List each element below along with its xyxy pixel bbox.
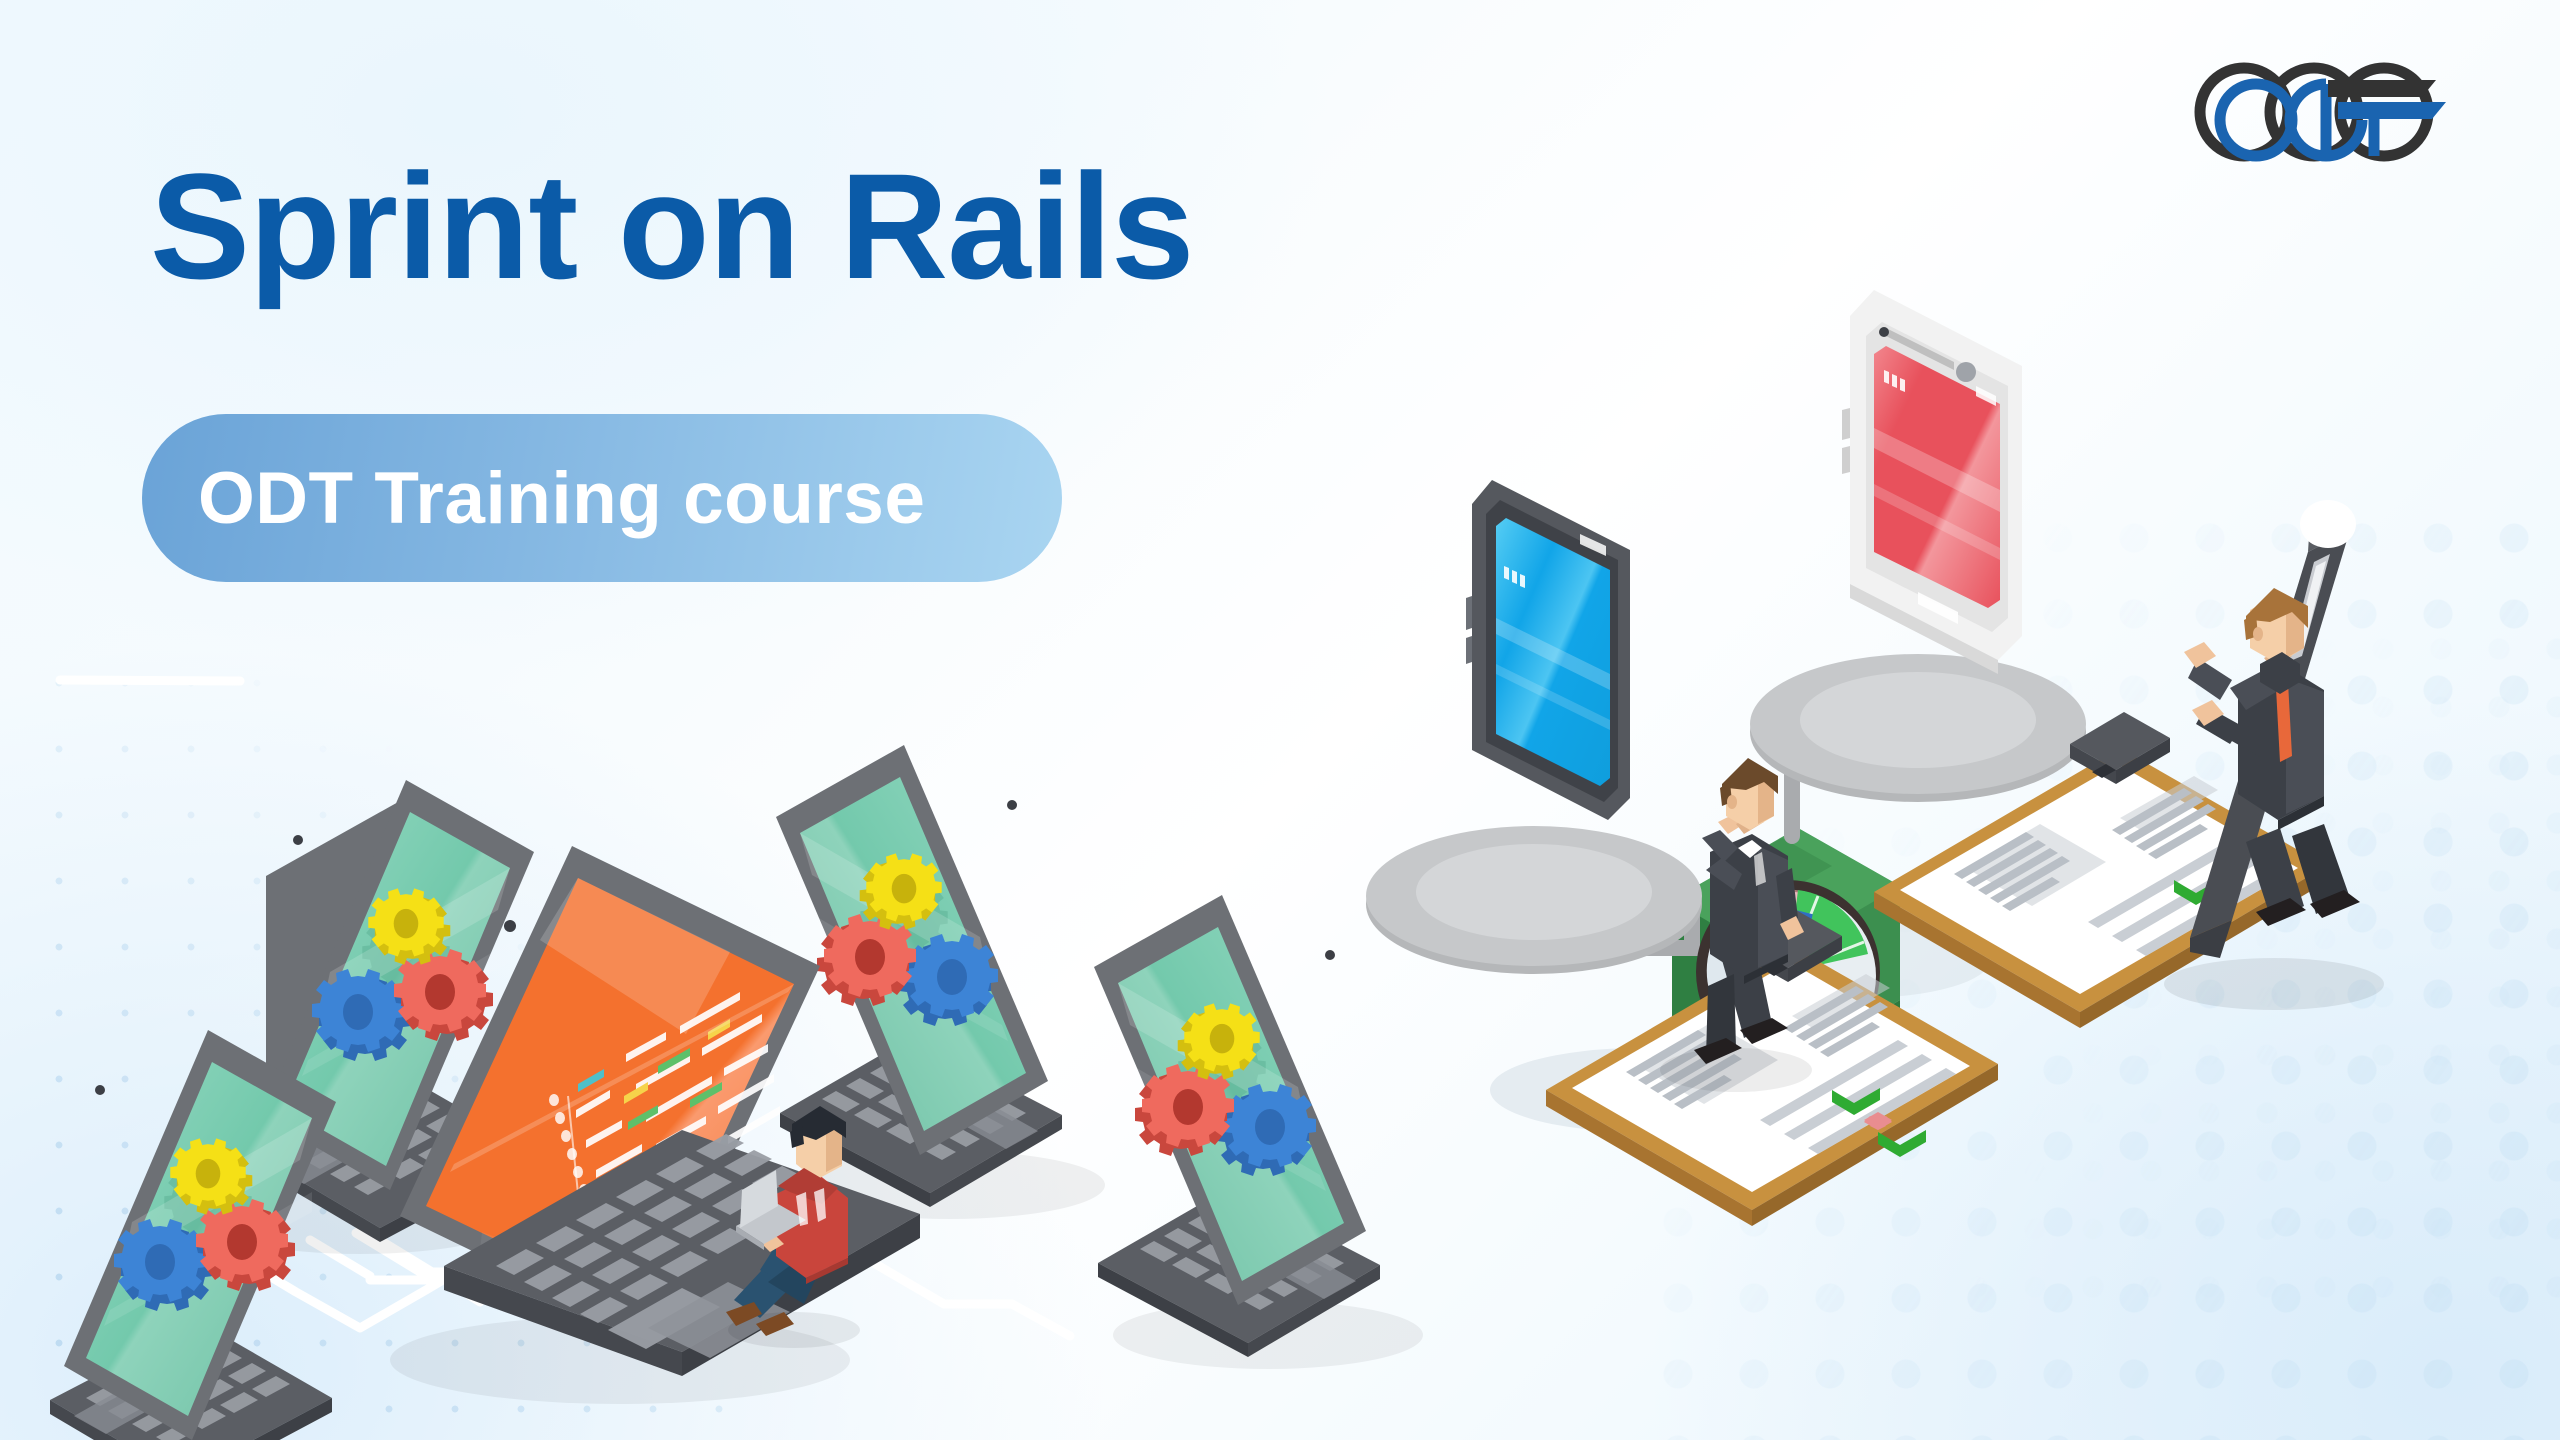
page-title: Sprint on Rails (150, 150, 1193, 303)
balance-scale-illustration (1340, 300, 2560, 1140)
person-with-pen (2164, 500, 2384, 1010)
scale-pan-left (1366, 826, 1702, 974)
scale-pan-right (1750, 654, 2086, 802)
phone-right-white (1842, 290, 2022, 674)
connected-laptops-illustration (60, 680, 1410, 1380)
course-badge-label: ODT Training course (198, 457, 925, 540)
phone-left-dark (1466, 480, 1630, 820)
course-badge: ODT Training course (142, 414, 1062, 582)
laptop-bottom-left (7, 1030, 336, 1440)
training-course-banner: Sprint on Rails ODT Training course (0, 0, 2560, 1440)
odt-logo (2178, 52, 2458, 162)
